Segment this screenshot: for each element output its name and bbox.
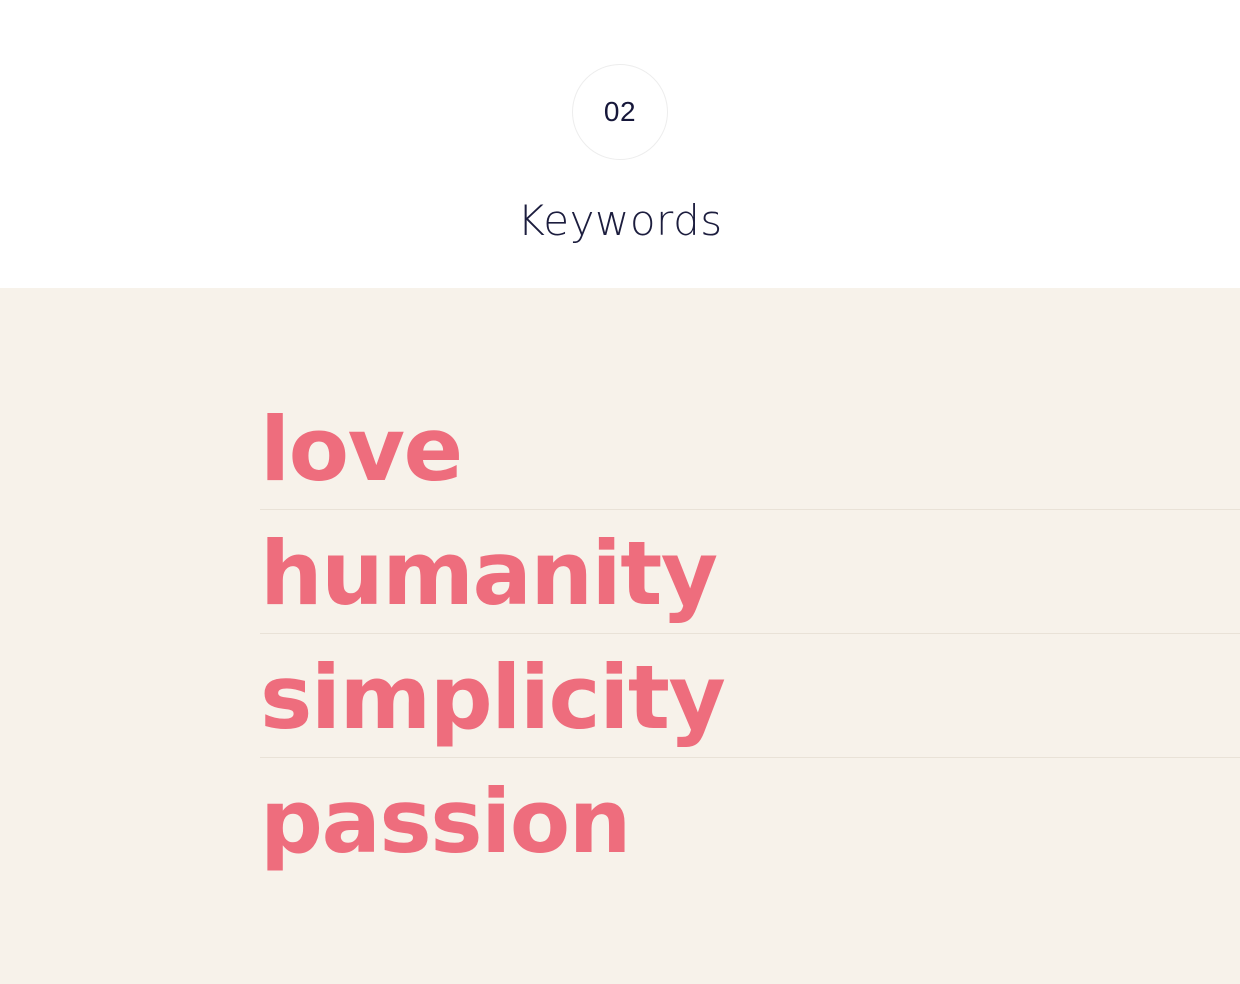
keyword-label: love bbox=[260, 406, 462, 494]
list-item: passion bbox=[260, 758, 1240, 882]
list-item: simplicity bbox=[260, 634, 1240, 758]
hero-section: 02 Keywords bbox=[0, 0, 1240, 288]
keywords-section: love humanity simplicity passion bbox=[0, 288, 1240, 984]
keyword-label: simplicity bbox=[260, 654, 724, 742]
keyword-label: passion bbox=[260, 778, 630, 866]
page-title: Keywords bbox=[517, 200, 722, 242]
list-item: love bbox=[260, 386, 1240, 510]
keyword-label: humanity bbox=[260, 530, 717, 618]
step-badge: 02 bbox=[572, 64, 668, 160]
keyword-list: love humanity simplicity passion bbox=[260, 386, 1240, 882]
step-badge-number: 02 bbox=[604, 98, 636, 126]
list-item: humanity bbox=[260, 510, 1240, 634]
